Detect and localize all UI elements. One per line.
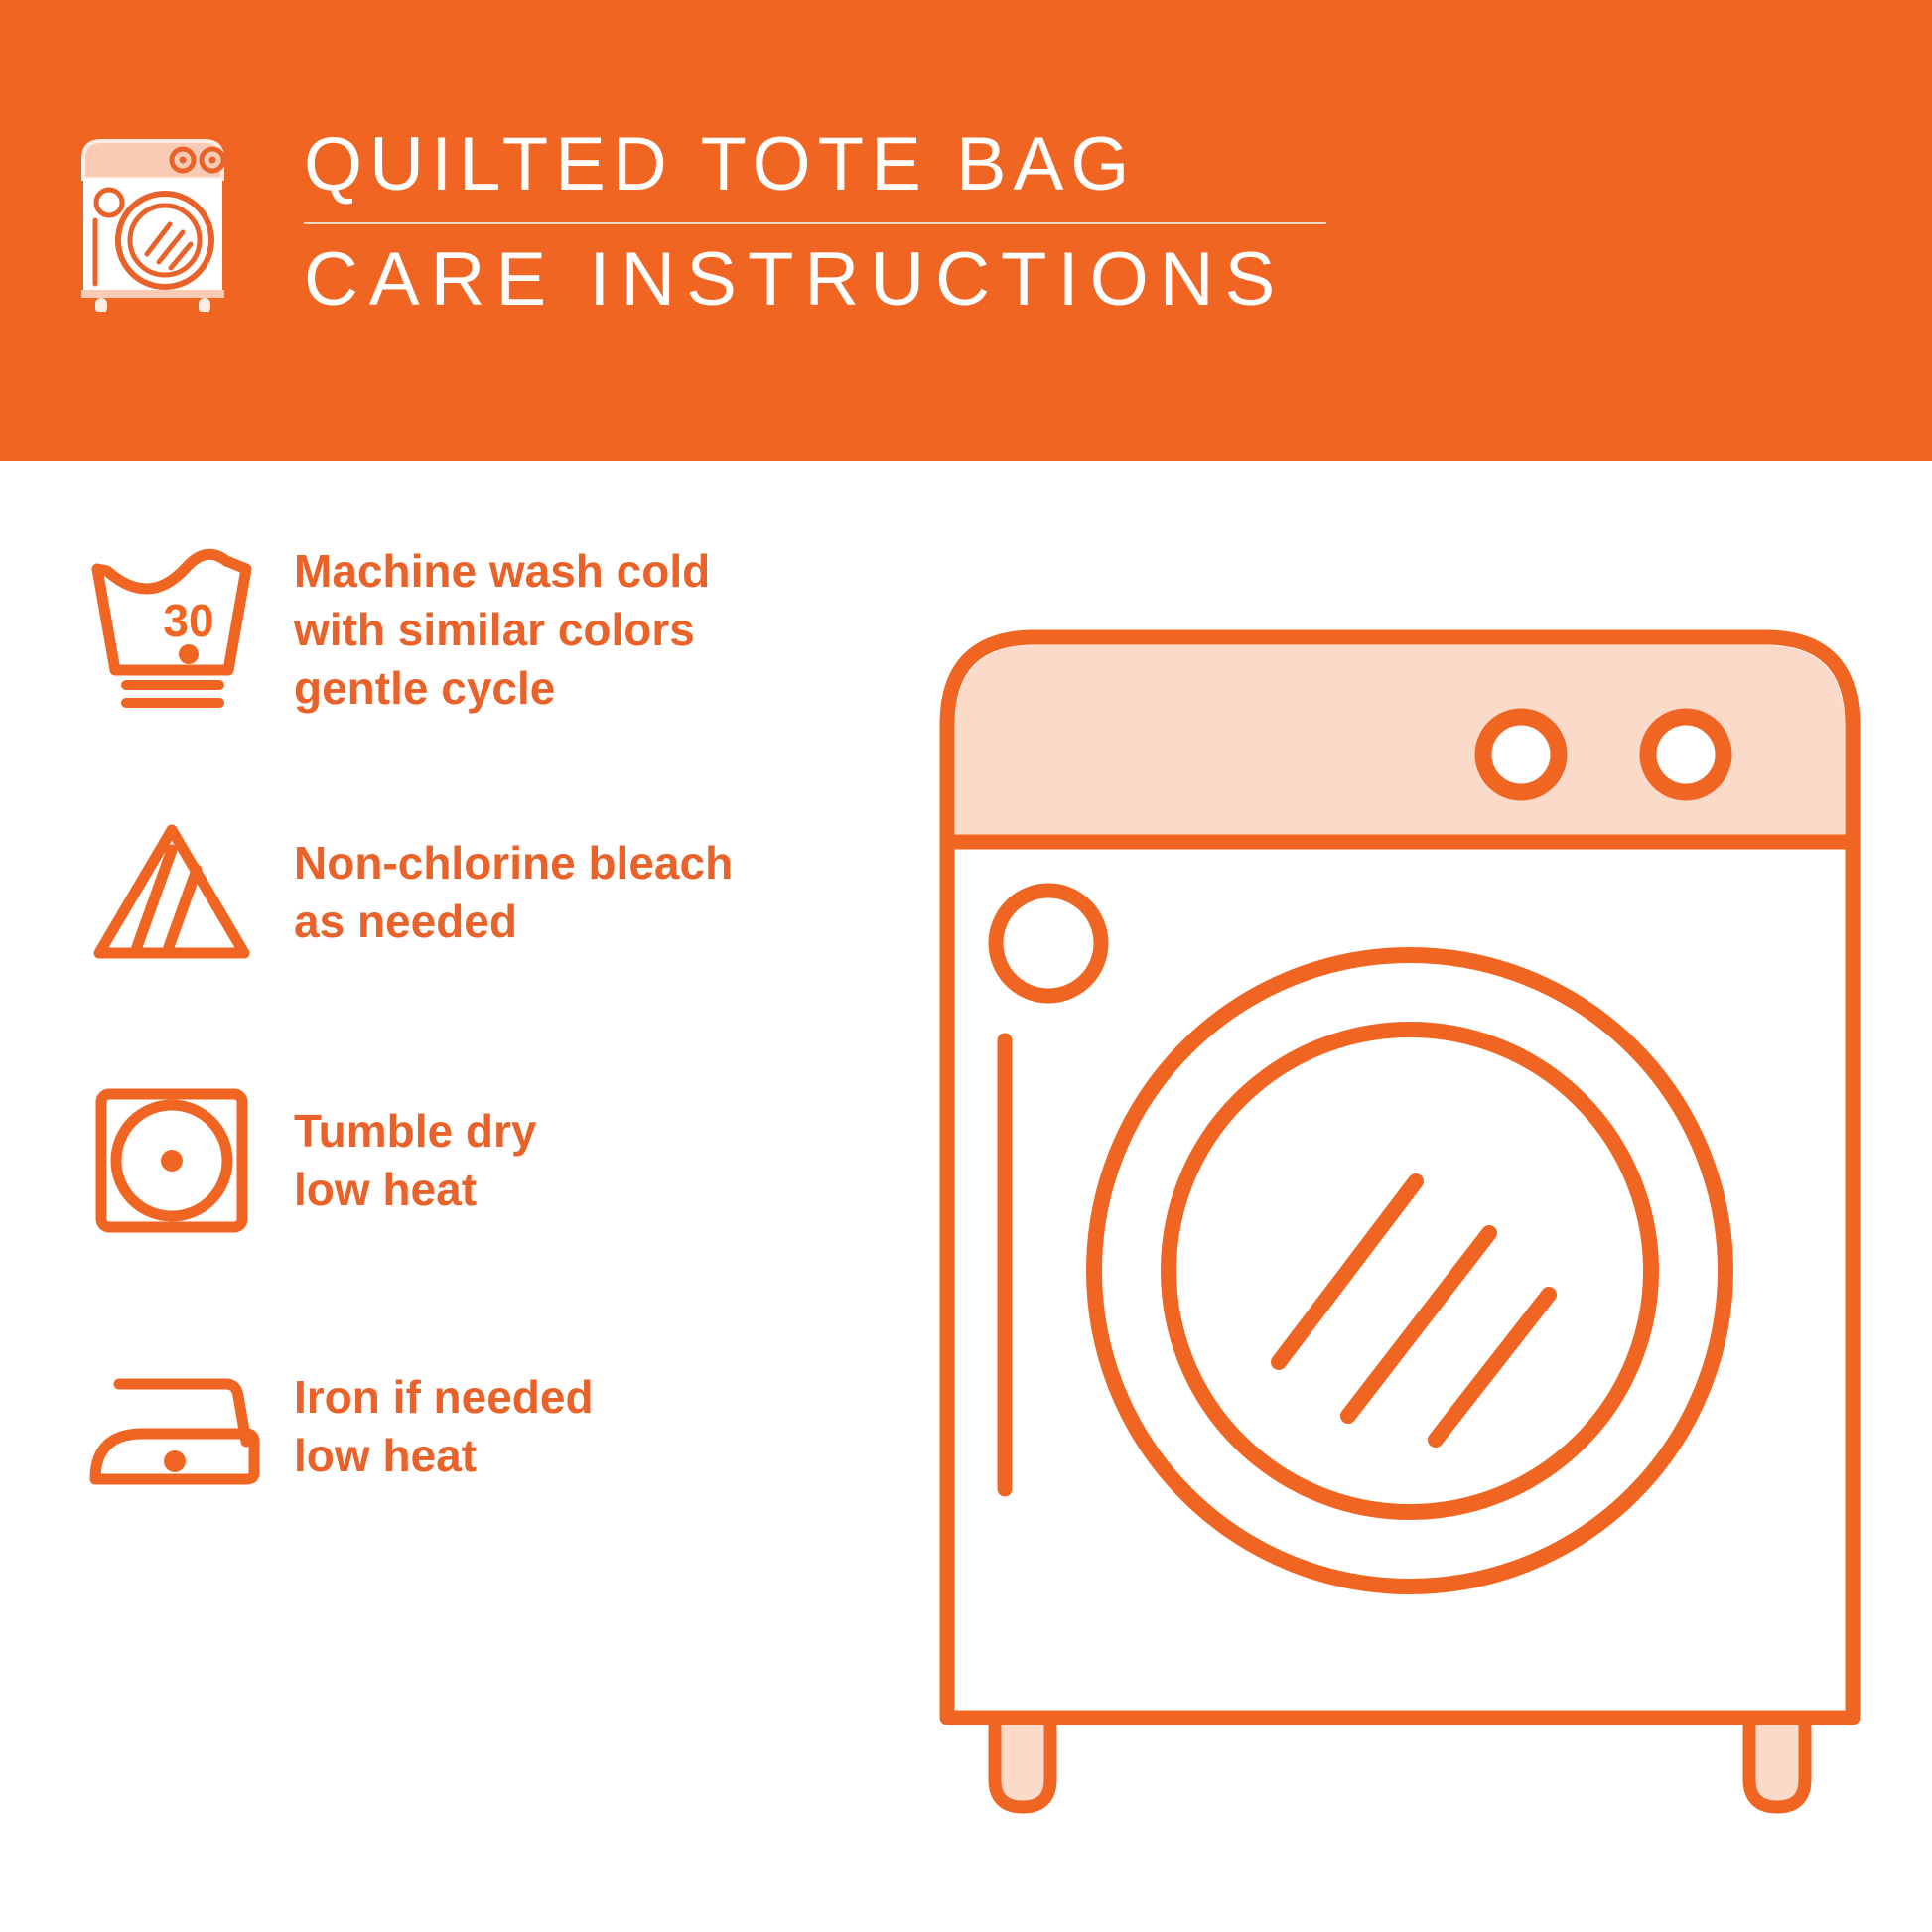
- care-label-tumble-dry: Tumble dry low heat: [294, 1102, 537, 1219]
- non-chlorine-bleach-triangle-icon: [77, 808, 266, 977]
- front-load-washing-machine-illustration: [933, 616, 1866, 1837]
- tumble-dry-low-icon: [77, 1076, 266, 1245]
- header-title-block: QUILTED TOTE BAG CARE INSTRUCTIONS: [304, 127, 1326, 318]
- page-subtitle: CARE INSTRUCTIONS: [304, 242, 1326, 318]
- care-row-bleach: Non-chlorine bleach as needed: [77, 808, 892, 977]
- care-row-tumble-dry: Tumble dry low heat: [77, 1076, 892, 1245]
- iron-low-heat-icon: [77, 1342, 266, 1511]
- care-row-iron: Iron if needed low heat: [77, 1342, 892, 1511]
- wash-temperature-label: 30: [163, 595, 213, 646]
- washing-machine-icon: [73, 133, 232, 312]
- header-band: QUILTED TOTE BAG CARE INSTRUCTIONS: [0, 0, 1932, 461]
- care-label-iron: Iron if needed low heat: [294, 1368, 594, 1485]
- wash-tub-30-icon: 30: [77, 545, 266, 714]
- knob-right-icon[interactable]: [1648, 717, 1724, 792]
- care-instructions-list: 30 Machine wash cold with similar colors…: [0, 461, 894, 1932]
- machine-legs: [995, 1718, 1805, 1807]
- care-label-bleach: Non-chlorine bleach as needed: [294, 834, 733, 951]
- page-title: QUILTED TOTE BAG: [304, 127, 1326, 203]
- care-label-machine-wash: Machine wash cold with similar colors ge…: [294, 542, 710, 718]
- knob-left-icon[interactable]: [1483, 717, 1559, 792]
- title-divider: [304, 222, 1326, 224]
- care-row-machine-wash: 30 Machine wash cold with similar colors…: [77, 542, 892, 718]
- header-content: QUILTED TOTE BAG CARE INSTRUCTIONS: [73, 127, 1326, 318]
